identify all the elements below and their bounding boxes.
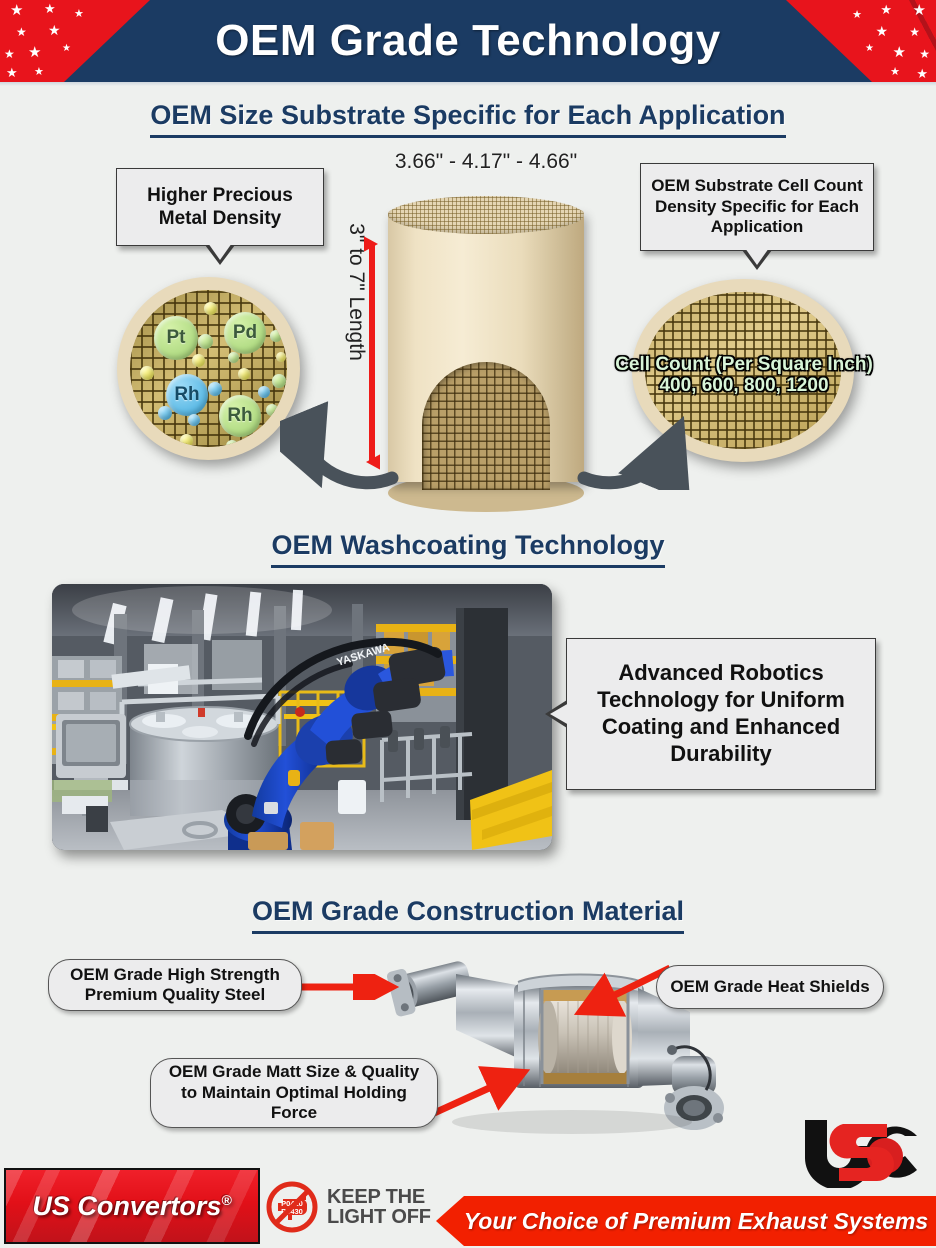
section-heading-washcoating: OEM Washcoating Technology	[0, 530, 936, 568]
keep-the-light-off-text: KEEP THE LIGHT OFF	[327, 1187, 431, 1228]
metal-sphere-pt: Pt	[154, 316, 198, 360]
metal-particle	[158, 406, 172, 420]
metal-particle	[252, 432, 265, 445]
tagline-text: Your Choice of Premium Exhaust Systems	[444, 1208, 928, 1235]
metal-particle	[226, 440, 238, 452]
precious-metal-magnified-view: Pt Pd Rh Rh	[117, 277, 300, 460]
metal-particle	[270, 330, 282, 342]
usc-logo[interactable]	[795, 1112, 927, 1188]
metal-particle	[208, 382, 222, 396]
honeycomb-mesh	[422, 362, 550, 490]
page-title: OEM Grade Technology	[0, 0, 936, 82]
cylinder-cutaway-mesh	[422, 362, 550, 490]
robotic-washcoating-line-photo: YASKAWA	[52, 584, 552, 850]
section-heading-construction: OEM Grade Construction Material	[0, 896, 936, 934]
metal-particle	[204, 302, 217, 315]
callout-higher-precious-metal-density: Higher Precious Metal Density	[116, 168, 324, 246]
keep-light-line-1: KEEP THE	[327, 1187, 431, 1207]
metal-particle	[238, 368, 250, 380]
metal-particle	[266, 404, 278, 416]
section-heading-washcoating-text: OEM Washcoating Technology	[271, 530, 664, 568]
callout-text: Higher Precious Metal Density	[125, 184, 315, 230]
callout-text: OEM Substrate Cell Count Density Specifi…	[649, 176, 865, 238]
callout-oem-substrate-cell-count: OEM Substrate Cell Count Density Specifi…	[640, 163, 874, 251]
page-header: ★ ★ ★ ★ ★ ★ ★ ★ ★ ★ ★ ★ ★ ★ ★ ★ ★ ★ ★ ★ …	[0, 0, 936, 82]
keep-the-light-off-badge: P0420 P0430 KEEP THE LIGHT OFF	[264, 1176, 440, 1238]
us-convertors-badge[interactable]: US Convertors®	[4, 1168, 260, 1244]
metal-particle	[258, 386, 270, 398]
metal-particle	[228, 352, 239, 363]
section-heading-construction-text: OEM Grade Construction Material	[252, 896, 684, 934]
metal-particle	[188, 414, 200, 426]
registered-mark: ®	[221, 1192, 231, 1208]
metal-particle	[276, 352, 286, 362]
callout-text: OEM Grade Matt Size & Quality to Maintai…	[161, 1062, 427, 1123]
metal-particle	[204, 448, 218, 460]
metal-particle	[272, 374, 286, 388]
arrow-to-matt-icon	[430, 1066, 540, 1122]
metal-sphere-rh-2: Rh	[219, 395, 261, 437]
callout-text: OEM Grade Heat Shields	[670, 977, 869, 997]
factory-scene: YASKAWA	[52, 584, 552, 850]
metal-particle	[180, 434, 193, 447]
substrate-cylinder	[388, 196, 584, 496]
honeycomb-mesh	[388, 196, 584, 234]
keep-light-line-2: LIGHT OFF	[327, 1207, 431, 1227]
metal-particle	[192, 354, 205, 367]
no-check-engine-light-icon: P0420 P0430	[264, 1179, 320, 1235]
arrow-to-steel-icon	[296, 974, 406, 1000]
metal-sphere-pd: Pd	[224, 312, 266, 354]
metal-sphere-rh: Rh	[166, 374, 208, 416]
metal-particle	[140, 366, 154, 380]
header-divider	[0, 82, 936, 86]
callout-text: OEM Grade High Strength Premium Quality …	[59, 965, 291, 1006]
tagline-banner: Your Choice of Premium Exhaust Systems	[436, 1196, 936, 1246]
us-convertors-label: US Convertors®	[32, 1191, 231, 1222]
callout-oem-grade-steel: OEM Grade High Strength Premium Quality …	[48, 959, 302, 1011]
callout-advanced-robotics: Advanced Robotics Technology for Uniform…	[566, 638, 876, 790]
section-heading-substrate: OEM Size Substrate Specific for Each App…	[0, 100, 936, 138]
section-heading-substrate-text: OEM Size Substrate Specific for Each App…	[150, 100, 785, 138]
metal-particle	[198, 334, 213, 349]
curved-arrow-left-icon	[280, 400, 400, 490]
cylinder-top-face	[388, 196, 584, 234]
callout-text: Advanced Robotics Technology for Uniform…	[575, 660, 867, 767]
callout-oem-grade-heat-shields: OEM Grade Heat Shields	[656, 965, 884, 1009]
diameter-label: 3.66" - 4.17" - 4.66"	[330, 150, 642, 174]
callout-oem-grade-matt-size: OEM Grade Matt Size & Quality to Maintai…	[150, 1058, 438, 1128]
curved-arrow-right-icon	[576, 400, 696, 490]
